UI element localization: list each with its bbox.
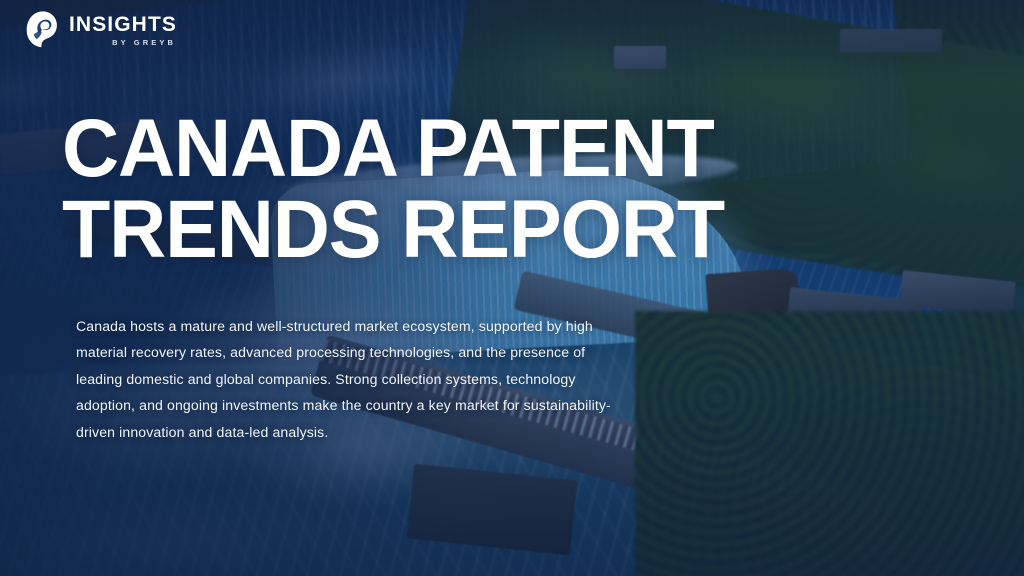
page-title-line-1: CANADA PATENT — [62, 103, 714, 194]
summary-paragraph: Canada hosts a mature and well-structure… — [76, 313, 618, 445]
brand-logo-lockup[interactable]: INSIGHTS BY GREYB — [26, 10, 177, 48]
page-title: CANADA PATENT TRENDS REPORT — [62, 108, 724, 270]
page-title-line-2: TRENDS REPORT — [62, 189, 724, 270]
logo-tagline: BY GREYB — [69, 39, 177, 47]
slide-content: INSIGHTS BY GREYB CANADA PATENT TRENDS R… — [0, 0, 1024, 576]
report-cover-slide: INSIGHTS BY GREYB CANADA PATENT TRENDS R… — [0, 0, 1024, 576]
logo-wordmark: INSIGHTS BY GREYB — [69, 12, 177, 47]
insights-circle-mark-icon — [26, 10, 60, 48]
logo-brand-name: INSIGHTS — [69, 14, 177, 35]
